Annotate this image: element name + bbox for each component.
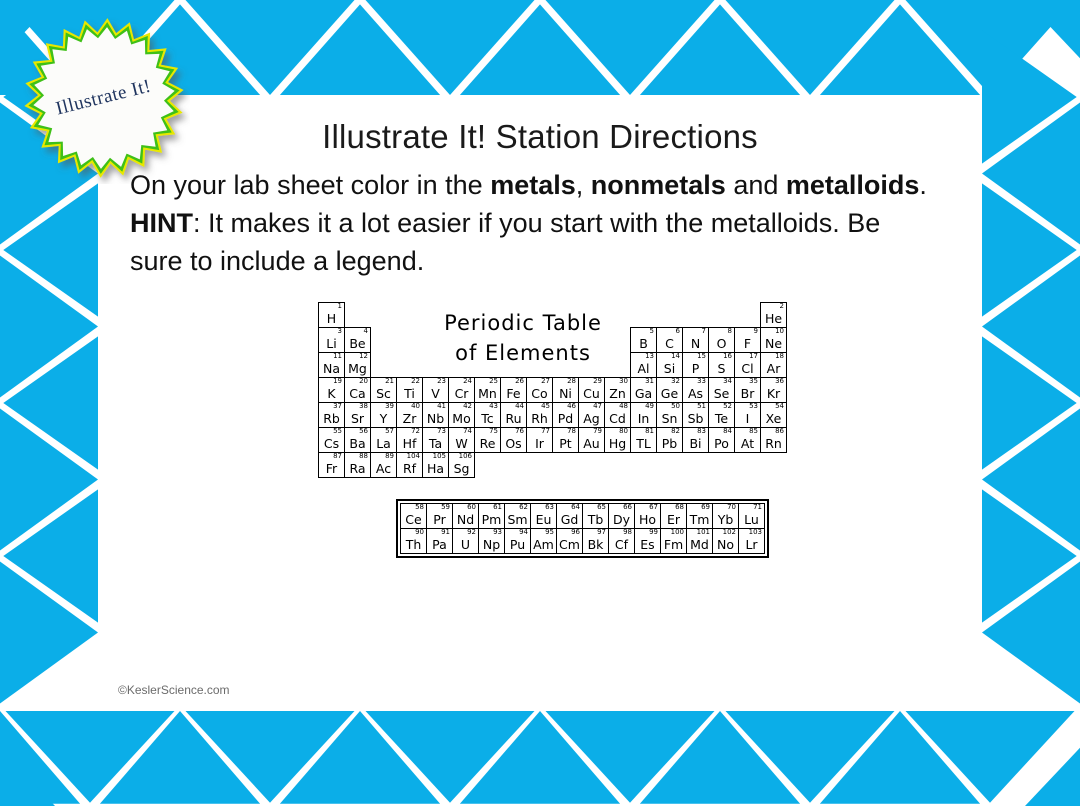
element-symbol: Ca bbox=[345, 387, 370, 401]
element-atomic-number: 45 bbox=[541, 402, 550, 410]
directions-emphasis: nonmetals bbox=[591, 170, 726, 200]
element-symbol: Ir bbox=[527, 437, 552, 451]
border-triangle bbox=[982, 103, 1080, 245]
element-atomic-number: 88 bbox=[359, 452, 368, 460]
element-cell[interactable]: 89Ac bbox=[370, 452, 397, 478]
element-atomic-number: 100 bbox=[671, 528, 684, 536]
border-triangle bbox=[820, 4, 980, 95]
element-cell[interactable]: 2He bbox=[760, 302, 787, 328]
periodic-table-title: Periodic Table of Elements bbox=[378, 308, 668, 368]
element-symbol: No bbox=[713, 538, 738, 552]
element-symbol: Mn bbox=[475, 387, 500, 401]
element-symbol: Md bbox=[687, 538, 712, 552]
element-cell[interactable]: 101Md bbox=[686, 528, 713, 554]
element-atomic-number: 47 bbox=[593, 402, 602, 410]
element-symbol: In bbox=[631, 412, 656, 426]
element-symbol: Bi bbox=[683, 437, 708, 451]
element-cell[interactable]: 105Ha bbox=[422, 452, 449, 478]
element-symbol: La bbox=[371, 437, 396, 451]
element-symbol: Ho bbox=[635, 513, 660, 527]
element-atomic-number: 95 bbox=[545, 528, 554, 536]
border-triangle bbox=[0, 409, 98, 551]
element-cell[interactable]: 20Ca bbox=[344, 377, 371, 403]
element-symbol: At bbox=[735, 437, 760, 451]
element-symbol: Al bbox=[631, 362, 656, 376]
border-triangle bbox=[186, 711, 355, 803]
border-triangle bbox=[0, 711, 80, 804]
element-atomic-number: 99 bbox=[649, 528, 658, 536]
element-cell[interactable]: 4Be bbox=[344, 327, 371, 353]
element-symbol: Cf bbox=[609, 538, 634, 552]
badge-text-wrap: Illustrate It! bbox=[18, 12, 190, 184]
element-cell[interactable]: 45Rh bbox=[526, 402, 553, 428]
border-triangle bbox=[186, 0, 355, 95]
element-cell[interactable]: 63Eu bbox=[530, 503, 557, 529]
element-symbol: Lu bbox=[739, 513, 764, 527]
element-symbol: N bbox=[683, 337, 708, 351]
element-atomic-number: 40 bbox=[411, 402, 420, 410]
element-cell[interactable]: 71Lu bbox=[738, 503, 765, 529]
element-symbol: Ba bbox=[345, 437, 370, 451]
element-symbol: Ag bbox=[579, 412, 604, 426]
element-cell[interactable]: 91Pa bbox=[426, 528, 453, 554]
element-cell[interactable]: 34Se bbox=[708, 377, 735, 403]
directions-fragment: . bbox=[919, 170, 927, 200]
element-cell[interactable]: 31Ga bbox=[630, 377, 657, 403]
element-cell[interactable]: 66Dy bbox=[608, 503, 635, 529]
element-atomic-number: 44 bbox=[515, 402, 524, 410]
element-cell[interactable]: 15P bbox=[682, 352, 709, 378]
element-atomic-number: 73 bbox=[437, 427, 446, 435]
border-triangle bbox=[820, 711, 980, 804]
border-triangle bbox=[280, 4, 440, 95]
element-atomic-number: 80 bbox=[619, 427, 628, 435]
element-atomic-number: 106 bbox=[459, 452, 472, 460]
element-cell[interactable]: 24Cr bbox=[448, 377, 475, 403]
element-symbol: W bbox=[449, 437, 474, 451]
border-triangle bbox=[1025, 748, 1080, 806]
element-symbol: Pd bbox=[553, 412, 578, 426]
element-cell[interactable]: 41Nb bbox=[422, 402, 449, 428]
element-cell[interactable]: 43Tc bbox=[474, 402, 501, 428]
element-atomic-number: 41 bbox=[437, 402, 446, 410]
element-cell[interactable]: 40Zr bbox=[396, 402, 423, 428]
element-cell[interactable]: 17Cl bbox=[734, 352, 761, 378]
element-symbol: Ac bbox=[371, 462, 396, 476]
element-atomic-number: 15 bbox=[697, 352, 706, 360]
border-triangle bbox=[726, 711, 895, 803]
element-atomic-number: 43 bbox=[489, 402, 498, 410]
element-cell[interactable]: 30Zn bbox=[604, 377, 631, 403]
element-cell[interactable]: 54Xe bbox=[760, 402, 787, 428]
border-triangle bbox=[460, 711, 620, 804]
element-atomic-number: 39 bbox=[385, 402, 394, 410]
element-symbol: As bbox=[683, 387, 708, 401]
element-atomic-number: 50 bbox=[671, 402, 680, 410]
border-triangle bbox=[0, 256, 98, 398]
element-cell[interactable]: 73Ta bbox=[422, 427, 449, 453]
element-atomic-number: 14 bbox=[671, 352, 680, 360]
element-atomic-number: 104 bbox=[407, 452, 420, 460]
element-cell[interactable]: 50Sn bbox=[656, 402, 683, 428]
element-atomic-number: 19 bbox=[333, 377, 342, 385]
element-atomic-number: 34 bbox=[723, 377, 732, 385]
element-cell[interactable]: 39Y bbox=[370, 402, 397, 428]
element-cell[interactable]: 27Co bbox=[526, 377, 553, 403]
element-cell[interactable]: 8O bbox=[708, 327, 735, 353]
element-cell[interactable]: 88Ra bbox=[344, 452, 371, 478]
element-atomic-number: 71 bbox=[753, 503, 762, 511]
element-symbol: Te bbox=[709, 412, 734, 426]
element-cell[interactable]: 65Tb bbox=[582, 503, 609, 529]
element-symbol: Nd bbox=[453, 513, 478, 527]
element-symbol: Nb bbox=[423, 412, 448, 426]
element-atomic-number: 65 bbox=[597, 503, 606, 511]
slide-canvas: Illustrate It! Station Directions On you… bbox=[0, 0, 1080, 806]
element-atomic-number: 97 bbox=[597, 528, 606, 536]
element-cell[interactable]: 83Bi bbox=[682, 427, 709, 453]
element-symbol: TL bbox=[631, 437, 656, 451]
element-cell[interactable]: 81TL bbox=[630, 427, 657, 453]
element-atomic-number: 92 bbox=[467, 528, 476, 536]
element-atomic-number: 90 bbox=[415, 528, 424, 536]
element-cell[interactable]: 53I bbox=[734, 402, 761, 428]
border-triangle bbox=[546, 711, 715, 803]
element-cell[interactable]: 42Mo bbox=[448, 402, 475, 428]
element-atomic-number: 30 bbox=[619, 377, 628, 385]
element-symbol: Th bbox=[401, 538, 426, 552]
border-triangle bbox=[3, 183, 98, 316]
element-cell[interactable]: 90Th bbox=[400, 528, 427, 554]
element-atomic-number: 84 bbox=[723, 427, 732, 435]
element-atomic-number: 2 bbox=[780, 302, 784, 310]
element-symbol: Ne bbox=[761, 337, 786, 351]
element-cell[interactable]: 19K bbox=[318, 377, 345, 403]
element-cell[interactable]: 14Si bbox=[656, 352, 683, 378]
element-cell[interactable]: 104Rf bbox=[396, 452, 423, 478]
element-symbol: Cd bbox=[605, 412, 630, 426]
element-symbol: Mg bbox=[345, 362, 370, 376]
border-triangle bbox=[3, 336, 98, 469]
element-cell[interactable]: 76Os bbox=[500, 427, 527, 453]
element-atomic-number: 61 bbox=[493, 503, 502, 511]
element-cell[interactable]: 84Po bbox=[708, 427, 735, 453]
element-atomic-number: 53 bbox=[749, 402, 758, 410]
element-cell[interactable]: 28Ni bbox=[552, 377, 579, 403]
element-cell[interactable]: 70Yb bbox=[712, 503, 739, 529]
element-symbol: I bbox=[735, 412, 760, 426]
element-cell[interactable]: 9F bbox=[734, 327, 761, 353]
element-cell[interactable]: 36Kr bbox=[760, 377, 787, 403]
element-symbol: B bbox=[631, 337, 656, 351]
element-atomic-number: 102 bbox=[723, 528, 736, 536]
element-symbol: Au bbox=[579, 437, 604, 451]
element-cell[interactable]: 99Es bbox=[634, 528, 661, 554]
element-atomic-number: 20 bbox=[359, 377, 368, 385]
element-atomic-number: 8 bbox=[728, 327, 732, 335]
element-atomic-number: 93 bbox=[493, 528, 502, 536]
element-cell[interactable]: 74W bbox=[448, 427, 475, 453]
border-triangle bbox=[366, 711, 535, 803]
element-atomic-number: 21 bbox=[385, 377, 394, 385]
element-atomic-number: 1 bbox=[338, 302, 342, 310]
element-cell[interactable]: 13Al bbox=[630, 352, 657, 378]
element-cell[interactable]: 51Sb bbox=[682, 402, 709, 428]
element-cell[interactable]: 59Pr bbox=[426, 503, 453, 529]
element-atomic-number: 63 bbox=[545, 503, 554, 511]
border-triangle bbox=[906, 711, 1075, 803]
element-atomic-number: 52 bbox=[723, 402, 732, 410]
element-atomic-number: 23 bbox=[437, 377, 446, 385]
element-atomic-number: 101 bbox=[697, 528, 710, 536]
element-atomic-number: 25 bbox=[489, 377, 498, 385]
element-symbol: Ra bbox=[345, 462, 370, 476]
element-cell[interactable]: 12Mg bbox=[344, 352, 371, 378]
element-cell[interactable]: 77Ir bbox=[526, 427, 553, 453]
element-cell[interactable]: 38Sr bbox=[344, 402, 371, 428]
element-symbol: Cs bbox=[319, 437, 344, 451]
element-symbol: Pr bbox=[427, 513, 452, 527]
element-symbol: Re bbox=[475, 437, 500, 451]
element-symbol: Sr bbox=[345, 412, 370, 426]
element-cell[interactable]: 25Mn bbox=[474, 377, 501, 403]
element-symbol: Kr bbox=[761, 387, 786, 401]
border-triangle bbox=[280, 711, 440, 804]
element-cell[interactable]: 11Na bbox=[318, 352, 345, 378]
element-atomic-number: 96 bbox=[571, 528, 580, 536]
element-atomic-number: 59 bbox=[441, 503, 450, 511]
element-atomic-number: 64 bbox=[571, 503, 580, 511]
element-cell[interactable]: 21Sc bbox=[370, 377, 397, 403]
element-atomic-number: 6 bbox=[676, 327, 680, 335]
element-symbol: Gd bbox=[557, 513, 582, 527]
element-cell[interactable]: 75Re bbox=[474, 427, 501, 453]
element-cell[interactable]: 7N bbox=[682, 327, 709, 353]
element-symbol: Ga bbox=[631, 387, 656, 401]
element-symbol: He bbox=[761, 312, 786, 326]
element-atomic-number: 9 bbox=[754, 327, 758, 335]
border-triangle bbox=[366, 0, 535, 95]
element-atomic-number: 56 bbox=[359, 427, 368, 435]
element-symbol: K bbox=[319, 387, 344, 401]
element-atomic-number: 105 bbox=[433, 452, 446, 460]
element-symbol: V bbox=[423, 387, 448, 401]
element-cell[interactable]: 26Fe bbox=[500, 377, 527, 403]
element-atomic-number: 60 bbox=[467, 503, 476, 511]
element-symbol: Tc bbox=[475, 412, 500, 426]
element-atomic-number: 13 bbox=[645, 352, 654, 360]
element-cell[interactable]: 98Cf bbox=[608, 528, 635, 554]
element-symbol: Po bbox=[709, 437, 734, 451]
element-symbol: Hg bbox=[605, 437, 630, 451]
element-symbol: Am bbox=[531, 538, 556, 552]
element-atomic-number: 38 bbox=[359, 402, 368, 410]
element-symbol: Hf bbox=[397, 437, 422, 451]
element-atomic-number: 62 bbox=[519, 503, 528, 511]
periodic-table-title-line2: of Elements bbox=[378, 338, 668, 368]
page-title: Illustrate It! Station Directions bbox=[100, 118, 980, 156]
element-cell[interactable]: 1H bbox=[318, 302, 345, 328]
element-symbol: O bbox=[709, 337, 734, 351]
element-symbol: Ta bbox=[423, 437, 448, 451]
element-cell[interactable]: 35Br bbox=[734, 377, 761, 403]
element-cell[interactable]: 18Ar bbox=[760, 352, 787, 378]
border-triangle bbox=[982, 409, 1080, 551]
element-symbol: Sc bbox=[371, 387, 396, 401]
element-cell[interactable]: 94Pu bbox=[504, 528, 531, 554]
element-symbol: Rf bbox=[397, 462, 422, 476]
element-cell[interactable]: 80Hg bbox=[604, 427, 631, 453]
element-cell[interactable]: 62Sm bbox=[504, 503, 531, 529]
element-cell[interactable]: 57La bbox=[370, 427, 397, 453]
element-cell[interactable]: 5B bbox=[630, 327, 657, 353]
element-atomic-number: 79 bbox=[593, 427, 602, 435]
element-symbol: Br bbox=[735, 387, 760, 401]
element-atomic-number: 28 bbox=[567, 377, 576, 385]
element-symbol: Pa bbox=[427, 538, 452, 552]
element-symbol: Sm bbox=[505, 513, 530, 527]
element-cell[interactable]: 44Ru bbox=[500, 402, 527, 428]
element-cell[interactable]: 52Te bbox=[708, 402, 735, 428]
element-cell[interactable]: 16S bbox=[708, 352, 735, 378]
element-symbol: Co bbox=[527, 387, 552, 401]
border-triangle bbox=[100, 711, 260, 804]
element-cell[interactable]: 61Pm bbox=[478, 503, 505, 529]
element-symbol: Sn bbox=[657, 412, 682, 426]
directions-fragment: , bbox=[576, 170, 591, 200]
element-atomic-number: 54 bbox=[775, 402, 784, 410]
element-cell[interactable]: 96Cm bbox=[556, 528, 583, 554]
element-atomic-number: 77 bbox=[541, 427, 550, 435]
element-atomic-number: 18 bbox=[775, 352, 784, 360]
element-cell[interactable]: 69Tm bbox=[686, 503, 713, 529]
element-cell[interactable]: 72Hf bbox=[396, 427, 423, 453]
badge-label: Illustrate It! bbox=[54, 76, 154, 121]
element-symbol: Np bbox=[479, 538, 504, 552]
element-symbol: Ar bbox=[761, 362, 786, 376]
element-symbol: Ti bbox=[397, 387, 422, 401]
element-cell[interactable]: 10Ne bbox=[760, 327, 787, 353]
element-atomic-number: 86 bbox=[775, 427, 784, 435]
element-symbol: Eu bbox=[531, 513, 556, 527]
element-symbol: Cr bbox=[449, 387, 474, 401]
border-triangle bbox=[982, 489, 1077, 622]
element-cell[interactable]: 37Rb bbox=[318, 402, 345, 428]
element-atomic-number: 17 bbox=[749, 352, 758, 360]
element-atomic-number: 82 bbox=[671, 427, 680, 435]
element-atomic-number: 12 bbox=[359, 352, 368, 360]
element-cell[interactable]: 106Sg bbox=[448, 452, 475, 478]
border-triangle bbox=[982, 336, 1077, 469]
element-cell[interactable]: 46Pd bbox=[552, 402, 579, 428]
element-cell[interactable]: 103Lr bbox=[738, 528, 765, 554]
element-atomic-number: 70 bbox=[727, 503, 736, 511]
element-cell[interactable]: 48Cd bbox=[604, 402, 631, 428]
element-cell[interactable]: 3Li bbox=[318, 327, 345, 353]
element-atomic-number: 11 bbox=[333, 352, 342, 360]
element-atomic-number: 85 bbox=[749, 427, 758, 435]
element-cell[interactable]: 67Ho bbox=[634, 503, 661, 529]
border-triangle bbox=[726, 0, 895, 95]
element-cell[interactable]: 22Ti bbox=[396, 377, 423, 403]
element-cell[interactable]: 6C bbox=[656, 327, 683, 353]
element-cell[interactable]: 93Np bbox=[478, 528, 505, 554]
element-atomic-number: 31 bbox=[645, 377, 654, 385]
element-cell[interactable]: 79Au bbox=[578, 427, 605, 453]
element-atomic-number: 87 bbox=[333, 452, 342, 460]
element-cell[interactable]: 49In bbox=[630, 402, 657, 428]
element-atomic-number: 75 bbox=[489, 427, 498, 435]
element-cell[interactable]: 86Rn bbox=[760, 427, 787, 453]
element-cell[interactable]: 87Fr bbox=[318, 452, 345, 478]
element-atomic-number: 91 bbox=[441, 528, 450, 536]
element-cell[interactable]: 102No bbox=[712, 528, 739, 554]
element-cell[interactable]: 32Ge bbox=[656, 377, 683, 403]
element-cell[interactable]: 29Cu bbox=[578, 377, 605, 403]
element-symbol: Fr bbox=[319, 462, 344, 476]
border-triangle bbox=[982, 183, 1077, 316]
element-symbol: Cm bbox=[557, 538, 582, 552]
element-symbol: Pt bbox=[553, 437, 578, 451]
element-symbol: Tb bbox=[583, 513, 608, 527]
element-cell[interactable]: 78Pt bbox=[552, 427, 579, 453]
periodic-table-title-line1: Periodic Table bbox=[378, 308, 668, 338]
element-cell[interactable]: 97Bk bbox=[582, 528, 609, 554]
element-cell[interactable]: 92U bbox=[452, 528, 479, 554]
element-atomic-number: 74 bbox=[463, 427, 472, 435]
element-atomic-number: 33 bbox=[697, 377, 706, 385]
element-atomic-number: 46 bbox=[567, 402, 576, 410]
element-atomic-number: 49 bbox=[645, 402, 654, 410]
element-symbol: Tm bbox=[687, 513, 712, 527]
element-atomic-number: 32 bbox=[671, 377, 680, 385]
element-atomic-number: 24 bbox=[463, 377, 472, 385]
element-symbol: Se bbox=[709, 387, 734, 401]
element-cell[interactable]: 55Cs bbox=[318, 427, 345, 453]
element-cell[interactable]: 100Fm bbox=[660, 528, 687, 554]
element-cell[interactable]: 82Pb bbox=[656, 427, 683, 453]
element-cell[interactable]: 64Gd bbox=[556, 503, 583, 529]
element-symbol: P bbox=[683, 362, 708, 376]
element-symbol: Zn bbox=[605, 387, 630, 401]
element-symbol: Rn bbox=[761, 437, 786, 451]
element-cell[interactable]: 58Ce bbox=[400, 503, 427, 529]
element-atomic-number: 58 bbox=[415, 503, 424, 511]
element-cell[interactable]: 95Am bbox=[530, 528, 557, 554]
element-cell[interactable]: 60Nd bbox=[452, 503, 479, 529]
element-symbol: Pu bbox=[505, 538, 530, 552]
element-symbol: Sg bbox=[449, 462, 474, 476]
element-atomic-number: 51 bbox=[697, 402, 706, 410]
element-atomic-number: 4 bbox=[364, 327, 368, 335]
directions-emphasis: HINT bbox=[130, 208, 193, 238]
element-cell[interactable]: 23V bbox=[422, 377, 449, 403]
element-cell[interactable]: 47Ag bbox=[578, 402, 605, 428]
element-cell[interactable]: 68Er bbox=[660, 503, 687, 529]
element-symbol: Si bbox=[657, 362, 682, 376]
element-atomic-number: 36 bbox=[775, 377, 784, 385]
element-symbol: Mo bbox=[449, 412, 474, 426]
element-cell[interactable]: 33As bbox=[682, 377, 709, 403]
element-atomic-number: 37 bbox=[333, 402, 342, 410]
element-symbol: Pm bbox=[479, 513, 504, 527]
element-atomic-number: 103 bbox=[749, 528, 762, 536]
directions-emphasis: metalloids bbox=[786, 170, 920, 200]
element-symbol: Ha bbox=[423, 462, 448, 476]
element-cell[interactable]: 56Ba bbox=[344, 427, 371, 453]
element-atomic-number: 3 bbox=[338, 327, 342, 335]
element-cell[interactable]: 85At bbox=[734, 427, 761, 453]
